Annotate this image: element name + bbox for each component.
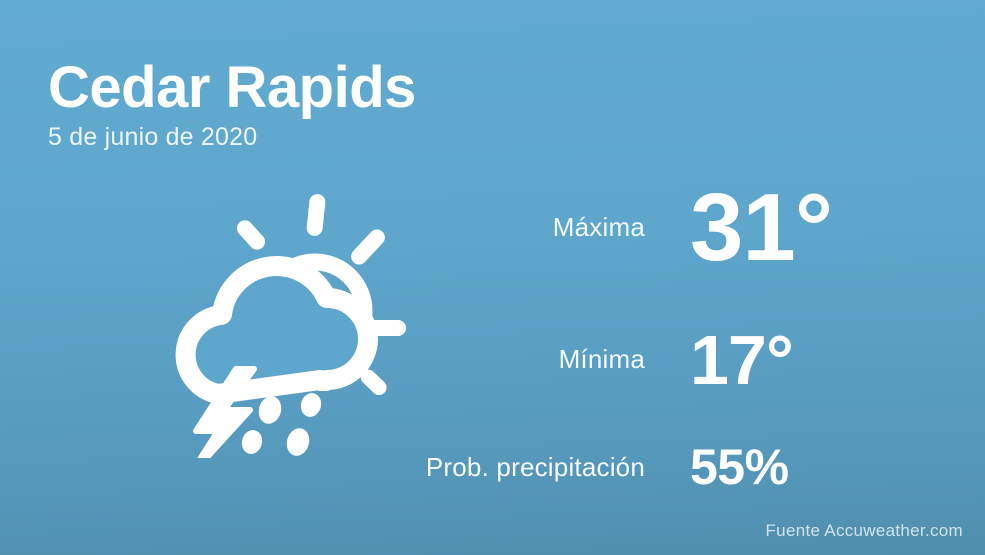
max-temp-label: Máxima bbox=[380, 212, 645, 243]
source-attribution: Fuente Accuweather.com bbox=[766, 521, 964, 541]
reading-row-min: Mínima 17° bbox=[380, 312, 985, 407]
thunderstorm-with-sun-icon bbox=[140, 178, 420, 458]
min-temp-value: 17° bbox=[690, 325, 793, 395]
weather-card: Cedar Rapids 5 de junio de 2020 bbox=[0, 0, 985, 555]
forecast-date: 5 de junio de 2020 bbox=[48, 123, 648, 152]
city-name: Cedar Rapids bbox=[48, 58, 648, 117]
min-temp-label: Mínima bbox=[380, 344, 645, 375]
readings-list: Máxima 31° Mínima 17° Prob. precipitació… bbox=[380, 170, 985, 500]
reading-row-precipitation: Prob. precipitación 55% bbox=[380, 432, 985, 502]
precipitation-value: 55% bbox=[690, 442, 789, 492]
reading-row-max: Máxima 31° bbox=[380, 170, 985, 285]
card-header: Cedar Rapids 5 de junio de 2020 bbox=[48, 58, 648, 152]
precipitation-label: Prob. precipitación bbox=[380, 452, 645, 483]
max-temp-value: 31° bbox=[690, 180, 832, 276]
